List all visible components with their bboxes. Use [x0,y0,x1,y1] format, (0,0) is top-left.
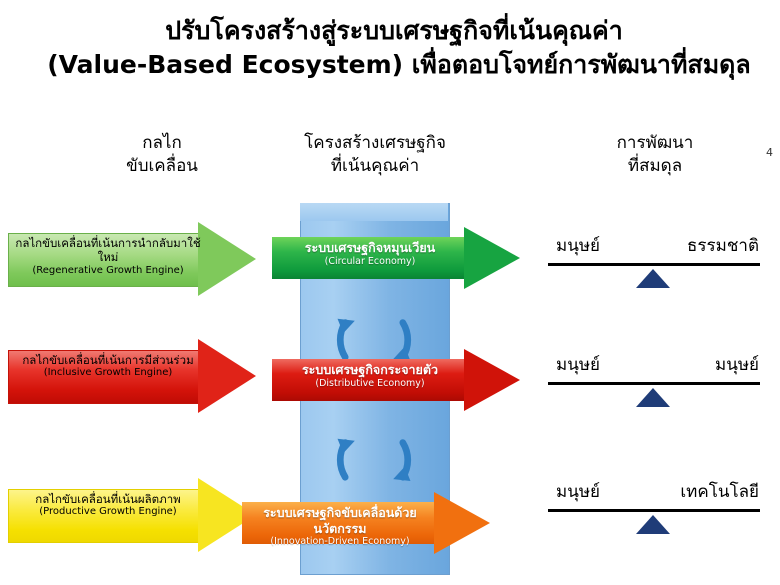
column-header-structure-line1: โครงสร้างเศรษฐกิจ [265,132,485,155]
driver-arrow-regenerative: กลไกขับเคลื่อนที่เน้นการนำกลับมาใช้ใหม่ … [8,222,256,296]
balance-left-label: มนุษย์ [556,351,600,378]
economy-arrow-distributive: ระบบเศรษฐกิจกระจายตัว (Distributive Econ… [272,349,524,411]
balance-left-label: มนุษย์ [556,478,600,505]
economy-arrow-circular-label: ระบบเศรษฐกิจหมุนเวียน (Circular Economy) [272,240,468,268]
driver-arrow-inclusive-label: กลไกขับเคลื่อนที่เน้นการมีส่วนร่วม (Incl… [14,353,202,380]
balance-terms: มนุษย์ มนุษย์ [548,351,763,377]
column-header-development-line2: ที่สมดุล [560,155,750,178]
driver-label-th: กลไกขับเคลื่อนที่เน้นผลิตภาพ [14,492,202,506]
page-title: ปรับโครงสร้างสู่ระบบเศรษฐกิจที่เน้นคุณค่… [0,14,780,82]
driver-arrow-productive: กลไกขับเคลื่อนที่เน้นผลิตภาพ (Productive… [8,478,256,552]
balance-beam [548,509,760,512]
economy-label-th: ระบบเศรษฐกิจขับเคลื่อนด้วยนวัตกรรม [242,505,438,536]
balance-fulcrum-icon [636,388,670,407]
economy-label-en: (Circular Economy) [272,256,468,268]
balance-human-technology: มนุษย์ เทคโนโลยี [548,478,763,570]
column-header-development-line1: การพัฒนา [560,132,750,155]
driver-arrow-productive-label: กลไกขับเคลื่อนที่เน้นผลิตภาพ (Productive… [14,492,202,519]
economy-arrow-circular-head [464,227,520,289]
driver-arrow-inclusive: กลไกขับเคลื่อนที่เน้นการมีส่วนร่วม (Incl… [8,339,256,413]
column-header-drivers: กลไก ขับเคลื่อน [72,132,252,178]
driver-label-th: กลไกขับเคลื่อนที่เน้นการนำกลับมาใช้ใหม่ [14,236,202,265]
driver-arrow-regenerative-head [198,222,256,296]
driver-label-en: (Productive Growth Engine) [14,506,202,519]
balance-human-nature: มนุษย์ ธรรมชาติ [548,232,763,324]
balance-fulcrum-icon [636,515,670,534]
economy-label-en: (Distributive Economy) [272,378,468,390]
driver-arrow-regenerative-label: กลไกขับเคลื่อนที่เน้นการนำกลับมาใช้ใหม่ … [14,236,202,277]
balance-fulcrum-icon [636,269,670,288]
economy-arrow-circular: ระบบเศรษฐกิจหมุนเวียน (Circular Economy) [272,227,524,289]
economy-arrow-innovation-head [434,492,490,554]
economy-arrow-innovation: ระบบเศรษฐกิจขับเคลื่อนด้วยนวัตกรรม (Inno… [242,492,494,554]
balance-beam [548,263,760,266]
column-header-development: การพัฒนา ที่สมดุล [560,132,750,178]
balance-right-label: ธรรมชาติ [687,232,759,259]
balance-right-label: มนุษย์ [715,351,759,378]
slide: ปรับโครงสร้างสู่ระบบเศรษฐกิจที่เน้นคุณค่… [0,0,780,585]
column-header-structure-line2: ที่เน้นคุณค่า [265,155,485,178]
column-header-structure: โครงสร้างเศรษฐกิจ ที่เน้นคุณค่า [265,132,485,178]
column-header-drivers-line1: กลไก [72,132,252,155]
economy-label-th: ระบบเศรษฐกิจกระจายตัว [272,362,468,378]
central-pillar-top [300,203,448,221]
column-header-drivers-line2: ขับเคลื่อน [72,155,252,178]
economy-arrow-distributive-head [464,349,520,411]
driver-label-en: (Regenerative Growth Engine) [14,265,202,278]
balance-beam [548,382,760,385]
title-line-2: (Value-Based Ecosystem) เพื่อตอบโจทย์การ… [0,48,780,82]
balance-terms: มนุษย์ เทคโนโลยี [548,478,763,504]
driver-label-th: กลไกขับเคลื่อนที่เน้นการมีส่วนร่วม [14,353,202,367]
economy-label-en: (Innovation-Driven Economy) [242,536,438,548]
title-line-1: ปรับโครงสร้างสู่ระบบเศรษฐกิจที่เน้นคุณค่… [0,14,780,48]
balance-terms: มนุษย์ ธรรมชาติ [548,232,763,258]
balance-right-label: เทคโนโลยี [680,478,759,505]
economy-arrow-innovation-label: ระบบเศรษฐกิจขับเคลื่อนด้วยนวัตกรรม (Inno… [242,505,438,548]
economy-label-th: ระบบเศรษฐกิจหมุนเวียน [272,240,468,256]
balance-human-human: มนุษย์ มนุษย์ [548,351,763,443]
balance-left-label: มนุษย์ [556,232,600,259]
driver-arrow-inclusive-head [198,339,256,413]
page-number: 4 [766,146,773,159]
driver-label-en: (Inclusive Growth Engine) [14,367,202,380]
economy-arrow-distributive-label: ระบบเศรษฐกิจกระจายตัว (Distributive Econ… [272,362,468,390]
